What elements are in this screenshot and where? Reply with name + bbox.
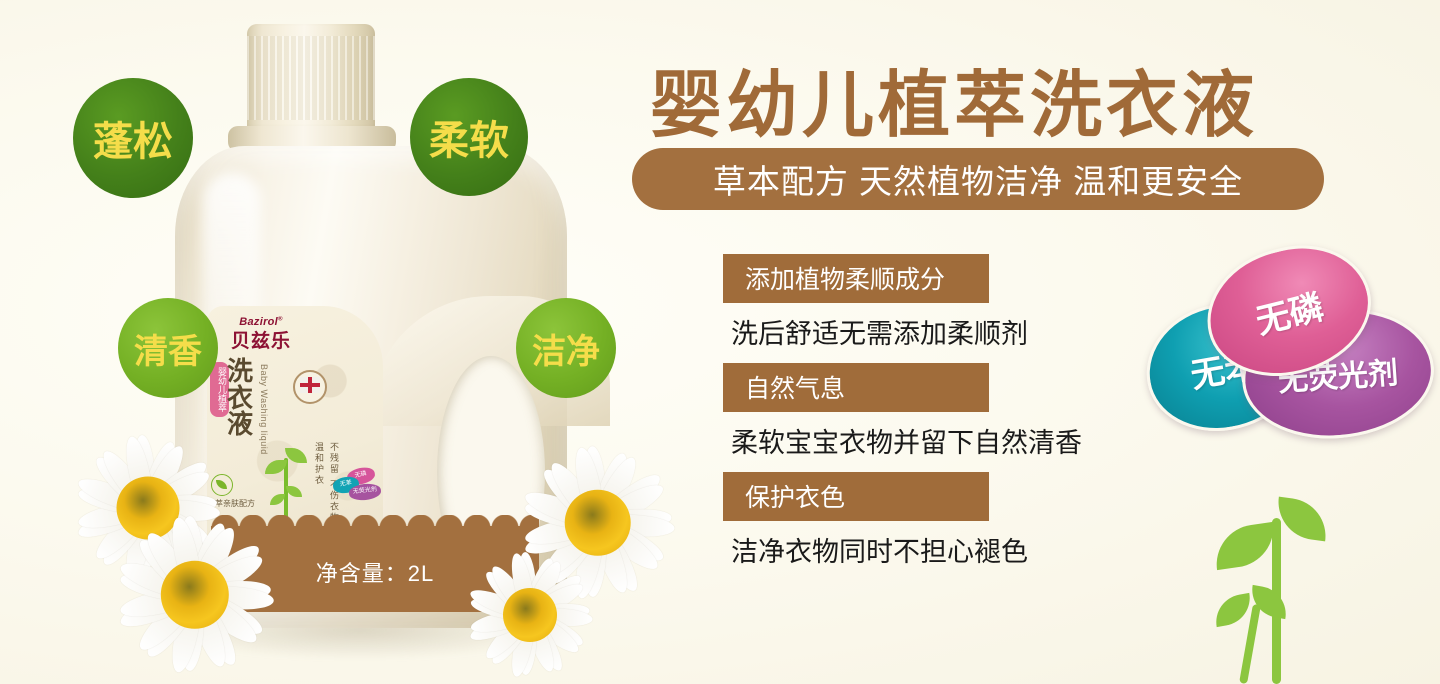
product-name-en: Baby Washing liquid <box>259 364 269 455</box>
feature-description: 洁净衣物同时不担心褪色 <box>723 521 1143 575</box>
brand-name-cn: 贝兹乐 <box>231 326 291 353</box>
benefit-circle-jiejing[interactable]: 洁净 <box>516 298 616 398</box>
daisy-flower <box>100 500 290 684</box>
bottle-cap <box>247 24 375 134</box>
free-from-badge-cluster: 无苯 无荧光剂 无磷 <box>1146 246 1436 456</box>
page-title: 婴幼儿植萃洗衣液 <box>650 46 1258 151</box>
feature-heading: 自然气息 <box>723 363 989 412</box>
cap-ridges <box>247 36 375 120</box>
feature-list: 添加植物柔顺成分 洗后舒适无需添加柔顺剂 自然气息 柔软宝宝衣物并留下自然清香 … <box>723 254 1143 581</box>
feature-description: 柔软宝宝衣物并留下自然清香 <box>723 412 1143 466</box>
feature-heading: 添加植物柔顺成分 <box>723 254 989 303</box>
daisy-flower <box>455 540 605 684</box>
uk-flag-icon <box>293 370 327 404</box>
brand-logo: Bazirol® 贝兹乐 <box>231 316 291 353</box>
feature-item: 保护衣色 洁净衣物同时不担心褪色 <box>723 472 1143 575</box>
registered-mark-icon: ® <box>278 316 283 322</box>
feature-description: 洗后舒适无需添加柔顺剂 <box>723 303 1143 357</box>
benefit-circle-rouruan[interactable]: 柔软 <box>410 78 528 196</box>
subtitle-banner: 草本配方 天然植物洁净 温和更安全 <box>632 148 1324 210</box>
feature-item: 添加植物柔顺成分 洗后舒适无需添加柔顺剂 <box>723 254 1143 357</box>
feature-heading: 保护衣色 <box>723 472 989 521</box>
feature-item: 自然气息 柔软宝宝衣物并留下自然清香 <box>723 363 1143 466</box>
label-free-from-badges: 无磷 无苯 无荧光剂 <box>333 468 381 504</box>
product-photo: Bazirol® 贝兹乐 婴幼儿植萃 洗衣液 Baby Washing liqu… <box>0 0 660 684</box>
benefit-circle-pengsong[interactable]: 蓬松 <box>73 78 193 198</box>
sprout-icon <box>1210 500 1350 684</box>
benefit-circle-qingxiang[interactable]: 清香 <box>118 298 218 398</box>
ad-banner: Bazirol® 贝兹乐 婴幼儿植萃 洗衣液 Baby Washing liqu… <box>0 0 1440 684</box>
